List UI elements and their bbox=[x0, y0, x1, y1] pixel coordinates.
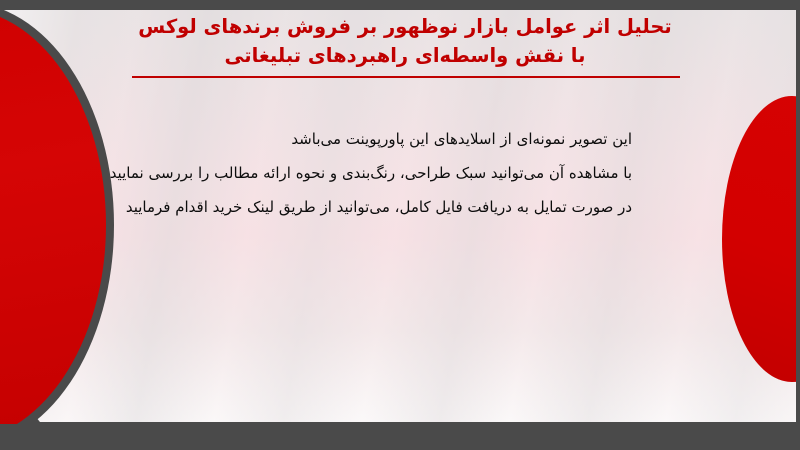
slide-title: تحلیل اثر عوامل بازار نوظهور بر فروش برن… bbox=[120, 12, 690, 70]
frame-top-bar bbox=[0, 0, 800, 10]
slide-canvas: تحلیل اثر عوامل بازار نوظهور بر فروش برن… bbox=[0, 0, 800, 450]
body-text-line-3: در صورت تمایل به دریافت فایل کامل، می‌تو… bbox=[112, 190, 632, 224]
frame-bottom-bar bbox=[0, 424, 800, 450]
slide-body-text: این تصویر نمونه‌ای از اسلایدهای این پاور… bbox=[112, 122, 632, 224]
slide-title-line-1: تحلیل اثر عوامل بازار نوظهور بر فروش برن… bbox=[120, 12, 690, 41]
slide-title-line-2: با نقش واسطه‌ای راهبردهای تبلیغاتی bbox=[120, 41, 690, 70]
title-underline-rule bbox=[132, 76, 680, 78]
body-text-line-1: این تصویر نمونه‌ای از اسلایدهای این پاور… bbox=[112, 122, 632, 156]
body-text-line-2: با مشاهده آن می‌توانید سبک طراحی، رنگ‌بن… bbox=[112, 156, 632, 190]
frame-right-bar bbox=[796, 0, 800, 450]
